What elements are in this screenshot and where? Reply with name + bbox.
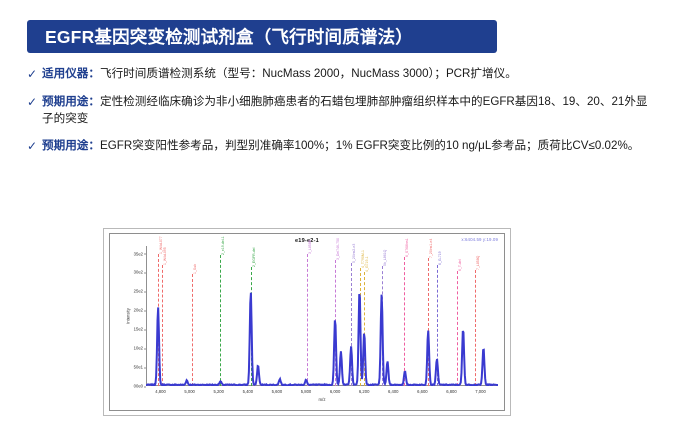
x-tick-label: 6,000 — [330, 389, 340, 394]
check-icon: ✓ — [27, 66, 42, 83]
list-item-text: 定性检测经临床确诊为非小细胞肺癌患者的石蜡包埋肺部肿瘤组织样本中的EGFR基因1… — [42, 95, 648, 125]
list-item-body: 预期用途：定性检测经临床确诊为非小细胞肺癌患者的石蜡包埋肺部肿瘤组织样本中的EG… — [42, 94, 652, 128]
x-tick-label: 6,400 — [388, 389, 398, 394]
list-item-text: EGFR突变阳性参考品，判型别准确率100%；1% EGFR突变比例的10 ng… — [100, 139, 639, 152]
title-banner: EGFR基因突变检测试剂盒（飞行时间质谱法） — [27, 20, 497, 53]
y-tick-label: 25e2 — [134, 289, 143, 294]
list-item-body: 适用仪器：飞行时间质谱检测系统（型号：NucMass 2000，NucMass … — [42, 66, 652, 83]
chart-inner-frame: e19-e2-1 x:6404.59 y:19.09 Intensity 00e… — [109, 233, 505, 411]
x-tick-label: 5,800 — [301, 389, 311, 394]
list-item: ✓ 预期用途：EGFR突变阳性参考品，判型别准确率100%；1% EGFR突变比… — [27, 138, 652, 155]
list-item-label: 适用仪器： — [42, 67, 100, 80]
check-icon: ✓ — [27, 138, 42, 155]
x-tick-label: 4,800 — [155, 389, 165, 394]
y-tick-label: 00e0 — [134, 384, 143, 389]
y-tick-label: 15e2 — [134, 327, 143, 332]
y-tick-label: 50e1 — [134, 365, 143, 370]
plot-area: Intensity 00e050e110e215e220e225e230e235… — [146, 246, 498, 386]
list-item: ✓ 适用仪器：飞行时间质谱检测系统（型号：NucMass 2000，NucMas… — [27, 66, 652, 83]
feature-list: ✓ 适用仪器：飞行时间质谱检测系统（型号：NucMass 2000，NucMas… — [27, 66, 652, 166]
x-tick-label: 6,600 — [417, 389, 427, 394]
list-item: ✓ 预期用途：定性检测经临床确诊为非小细胞肺癌患者的石蜡包埋肺部肿瘤组织样本中的… — [27, 94, 652, 128]
y-axis-title: Intensity — [125, 308, 130, 324]
chart-title: e19-e2-1 — [110, 238, 504, 244]
x-tick-label: 5,200 — [213, 389, 223, 394]
list-item-body: 预期用途：EGFR突变阳性参考品，判型别准确率100%；1% EGFR突变比例的… — [42, 138, 652, 155]
mass-spectrum-chart-panel: e19-e2-1 x:6404.59 y:19.09 Intensity 00e… — [103, 228, 511, 416]
y-tick-label: 10e2 — [134, 346, 143, 351]
x-tick-label: 5,600 — [272, 389, 282, 394]
x-tick-label: 5,400 — [243, 389, 253, 394]
y-tick-label: 20e2 — [134, 308, 143, 313]
spectrum-line — [146, 293, 498, 386]
x-tick-label: 7,000 — [475, 389, 485, 394]
x-axis-title: m/z — [146, 397, 498, 402]
x-tick-label: 6,200 — [359, 389, 369, 394]
x-tick-label: 5,000 — [184, 389, 194, 394]
list-item-label: 预期用途： — [42, 139, 100, 152]
list-item-label: 预期用途： — [42, 95, 100, 108]
list-item-text: 飞行时间质谱检测系统（型号：NucMass 2000，NucMass 3000）… — [100, 67, 517, 80]
y-tick-label: 30e2 — [134, 270, 143, 275]
spectrum-trace — [146, 246, 498, 386]
x-axis-ticks: m/z 4,8005,0005,2005,4005,6005,8006,0006… — [146, 386, 498, 410]
x-tick-label: 6,800 — [446, 389, 456, 394]
cursor-coordinate-readout: x:6404.59 y:19.09 — [461, 237, 498, 242]
y-tick-label: 35e2 — [134, 251, 143, 256]
check-icon: ✓ — [27, 94, 42, 111]
page-title: EGFR基因突变检测试剂盒（飞行时间质谱法） — [45, 24, 413, 49]
